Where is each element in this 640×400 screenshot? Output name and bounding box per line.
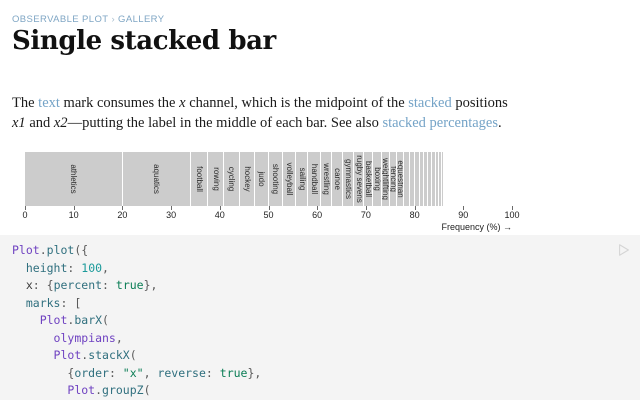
intro-text-7: .: [498, 115, 502, 131]
code-token: : {: [33, 278, 54, 292]
bar-segment-label: rowing: [212, 167, 220, 191]
code-line: Plot.barX(: [12, 312, 261, 330]
bar-segment-label: equestrian: [397, 160, 403, 197]
breadcrumb-separator: ›: [111, 14, 115, 25]
code-token: (: [144, 383, 151, 397]
code-line: Plot.plot({: [12, 242, 261, 260]
bar-segment[interactable]: hockey: [240, 152, 254, 206]
code-token: },: [247, 366, 261, 380]
code-token: [12, 331, 54, 345]
code-token: Plot: [12, 243, 40, 257]
link-text-mark[interactable]: text: [38, 95, 60, 111]
bar-segment[interactable]: handball: [308, 152, 319, 206]
bar-segment-label: wrestling: [322, 163, 330, 195]
page-root: OBSERVABLE PLOT›GALLERY Single stacked b…: [0, 0, 640, 400]
bar-segment[interactable]: sailing: [296, 152, 308, 206]
code-token: : [: [60, 296, 81, 310]
code-token: height: [26, 261, 68, 275]
bar-segment[interactable]: cycling: [224, 152, 239, 206]
bar-segment-label: fencing: [390, 166, 396, 192]
code-line: x: {percent: true},: [12, 277, 261, 295]
code-token: [12, 348, 54, 362]
bar-segment[interactable]: [442, 152, 443, 206]
bar-segment[interactable]: fencing: [390, 152, 396, 206]
code-line: height: 100,: [12, 260, 261, 278]
code-token: true: [116, 278, 144, 292]
bar-segment-label: aquatics: [152, 164, 160, 194]
bar-segment-label: cycling: [227, 167, 235, 191]
bar-segment-label: football: [195, 166, 203, 192]
bar-segment-label: gymnastics: [344, 159, 352, 199]
bar-segment-label: handball: [310, 164, 318, 194]
code-token: marks: [26, 296, 61, 310]
bar-segment-label: athletics: [69, 164, 77, 193]
code-token: ,: [144, 366, 158, 380]
code-line: Plot.stackX(: [12, 347, 261, 365]
play-icon[interactable]: [617, 243, 631, 257]
bar-segment[interactable]: [424, 152, 427, 206]
code-token: x: [26, 278, 33, 292]
code-token: ,: [102, 261, 109, 275]
bar-segment-label: canoe: [333, 168, 341, 190]
bar-segment[interactable]: athletics: [25, 152, 122, 206]
code-token: (: [102, 313, 109, 327]
intro-paragraph: The text mark consumes the x channel, wh…: [12, 93, 517, 134]
bar-segment-label: boxing: [373, 167, 381, 191]
bar-segment[interactable]: [428, 152, 431, 206]
code-token: },: [144, 278, 158, 292]
bar-segment-label: hockey: [243, 166, 251, 191]
code-token: true: [220, 366, 248, 380]
code-token: [12, 296, 26, 310]
code-token: olympians: [54, 331, 116, 345]
bar-segment-label: basketball: [364, 161, 372, 197]
bar-segment-label: weightlifting: [382, 158, 389, 200]
bar-segment-label: volleyball: [285, 163, 293, 196]
bar-segment[interactable]: shooting: [269, 152, 282, 206]
bar-segment[interactable]: [415, 152, 419, 206]
intro-em-x1: x1: [12, 115, 26, 131]
code-token: .: [40, 243, 47, 257]
intro-text-2: mark consumes the: [60, 95, 179, 111]
intro-em-x2: x2: [54, 115, 68, 131]
code-token: plot: [47, 243, 75, 257]
code-token: order: [74, 366, 109, 380]
bar-segment[interactable]: [439, 152, 441, 206]
x-axis: 0102030405060708090100: [25, 206, 512, 224]
code-token: [12, 383, 67, 397]
code-token: ,: [116, 331, 123, 345]
code-block: Plot.plot({ height: 100, x: {percent: tr…: [0, 235, 640, 400]
code-token: :: [109, 366, 123, 380]
bar-segment[interactable]: [432, 152, 434, 206]
code-source[interactable]: Plot.plot({ height: 100, x: {percent: tr…: [12, 242, 261, 400]
code-token: [12, 261, 26, 275]
code-token: [12, 278, 26, 292]
code-token: "x": [123, 366, 144, 380]
link-stacked-percentages[interactable]: stacked percentages: [382, 115, 498, 131]
bar-segment[interactable]: [404, 152, 409, 206]
axis-tick-label: 80: [410, 210, 420, 220]
code-token: stackX: [88, 348, 130, 362]
breadcrumb: OBSERVABLE PLOT›GALLERY: [12, 14, 165, 25]
intro-text-4: positions: [452, 95, 508, 111]
x-axis-title: Frequency (%) →: [441, 222, 512, 232]
bar-segment-label: sailing: [298, 168, 306, 191]
code-token: {: [12, 366, 74, 380]
axis-tick-label: 90: [458, 210, 468, 220]
bar-segment[interactable]: gymnastics: [343, 152, 353, 206]
code-token: reverse: [157, 366, 205, 380]
code-token: barX: [74, 313, 102, 327]
intro-text-3: channel, which is the midpoint of the: [186, 95, 409, 111]
axis-tick-label: 40: [215, 210, 225, 220]
plot-area: athleticsaquaticsfootballrowingcyclingho…: [25, 152, 512, 206]
bar-segment[interactable]: [436, 152, 438, 206]
breadcrumb-item-observable-plot[interactable]: OBSERVABLE PLOT: [12, 14, 108, 25]
bar-segment[interactable]: volleyball: [283, 152, 295, 206]
bar-segment[interactable]: equestrian: [397, 152, 403, 206]
code-token: :: [206, 366, 220, 380]
code-token: :: [67, 261, 81, 275]
bar-segment[interactable]: [410, 152, 414, 206]
code-line: Plot.groupZ(: [12, 382, 261, 400]
bar-segment[interactable]: rugby sevens: [354, 152, 363, 206]
code-line: {order: "x", reverse: true},: [12, 365, 261, 383]
code-token: :: [102, 278, 116, 292]
code-token: (: [130, 348, 137, 362]
page-title: Single stacked bar: [12, 26, 276, 56]
bar-segment-label: judo: [257, 171, 265, 186]
link-stacked[interactable]: stacked: [408, 95, 451, 111]
axis-tick-label: 10: [69, 210, 79, 220]
axis-tick-label: 100: [504, 210, 519, 220]
axis-tick-label: 20: [117, 210, 127, 220]
axis-tick-label: 50: [263, 210, 273, 220]
axis-tick-label: 0: [22, 210, 27, 220]
code-line: marks: [: [12, 295, 261, 313]
intro-text-5: and: [26, 115, 54, 131]
code-token: percent: [54, 278, 102, 292]
code-line: olympians,: [12, 330, 261, 348]
bar-segment[interactable]: judo: [255, 152, 268, 206]
bar-segment[interactable]: boxing: [373, 152, 381, 206]
intro-text-6: —putting the label in the middle of each…: [68, 115, 383, 131]
bar-segment-label: rugby sevens: [355, 155, 363, 203]
bar-segment[interactable]: canoe: [332, 152, 342, 206]
breadcrumb-item-gallery[interactable]: GALLERY: [118, 14, 164, 25]
bar-segment-label: shooting: [271, 164, 279, 194]
bar-segment[interactable]: rowing: [208, 152, 223, 206]
axis-tick-label: 60: [312, 210, 322, 220]
bar-segment[interactable]: weightlifting: [382, 152, 389, 206]
code-token: Plot: [54, 348, 82, 362]
code-token: [12, 313, 40, 327]
stacked-bar: athleticsaquaticsfootballrowingcyclingho…: [25, 152, 512, 206]
code-token: groupZ: [102, 383, 144, 397]
axis-tick-label: 70: [361, 210, 371, 220]
intro-text-1: The: [12, 95, 38, 111]
bar-segment[interactable]: aquatics: [123, 152, 190, 206]
code-token: .: [95, 383, 102, 397]
axis-tick-label: 30: [166, 210, 176, 220]
stacked-bar-figure: athleticsaquaticsfootballrowingcyclingho…: [12, 148, 628, 236]
code-token: Plot: [67, 383, 95, 397]
bar-segment[interactable]: basketball: [364, 152, 372, 206]
bar-segment[interactable]: football: [191, 152, 208, 206]
bar-segment[interactable]: [420, 152, 423, 206]
code-token: ({: [74, 243, 88, 257]
bar-segment[interactable]: wrestling: [321, 152, 332, 206]
code-token: Plot: [40, 313, 68, 327]
code-token: 100: [81, 261, 102, 275]
